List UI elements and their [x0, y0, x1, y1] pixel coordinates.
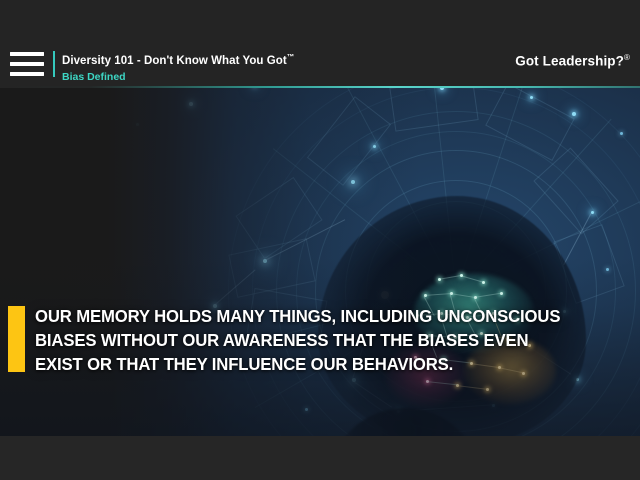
slide-player: Diversity 101 - Don't Know What You Got™…: [0, 0, 640, 480]
registered-mark-icon: ®: [624, 53, 630, 62]
network-node: [136, 123, 139, 126]
caption-text: Our memory holds many things, including …: [35, 304, 570, 376]
network-node: [305, 408, 308, 411]
deck-title: Diversity 101 - Don't Know What You Got™: [62, 50, 294, 68]
title-divider: [53, 51, 55, 77]
network-node: [620, 132, 623, 135]
caption-accent-bar: [8, 306, 25, 372]
hamburger-menu-icon[interactable]: [10, 52, 44, 76]
network-node: [373, 145, 376, 148]
player-footer: [0, 436, 640, 480]
deck-title-text: Diversity 101 - Don't Know What You Got: [62, 55, 287, 67]
network-node: [16, 146, 19, 149]
slide-stage: Our memory holds many things, including …: [0, 88, 640, 436]
header-accent-rule: [0, 86, 640, 88]
hamburger-bar-3: [10, 72, 44, 76]
title-block: Diversity 101 - Don't Know What You Got™…: [62, 50, 294, 83]
trademark-icon: ™: [287, 52, 295, 61]
hamburger-bar-1: [10, 52, 44, 56]
player-header: Diversity 101 - Don't Know What You Got™…: [0, 0, 640, 88]
network-node: [351, 180, 355, 184]
network-node: [189, 102, 193, 106]
brand-text: Got Leadership?: [515, 54, 624, 69]
network-node: [572, 112, 576, 116]
slide-caption: Our memory holds many things, including …: [0, 304, 640, 376]
network-node: [530, 96, 533, 99]
brand-logo: Got Leadership?®: [515, 53, 630, 69]
deck-subtitle: Bias Defined: [62, 71, 294, 83]
network-node: [606, 268, 609, 271]
hamburger-bar-2: [10, 62, 44, 66]
